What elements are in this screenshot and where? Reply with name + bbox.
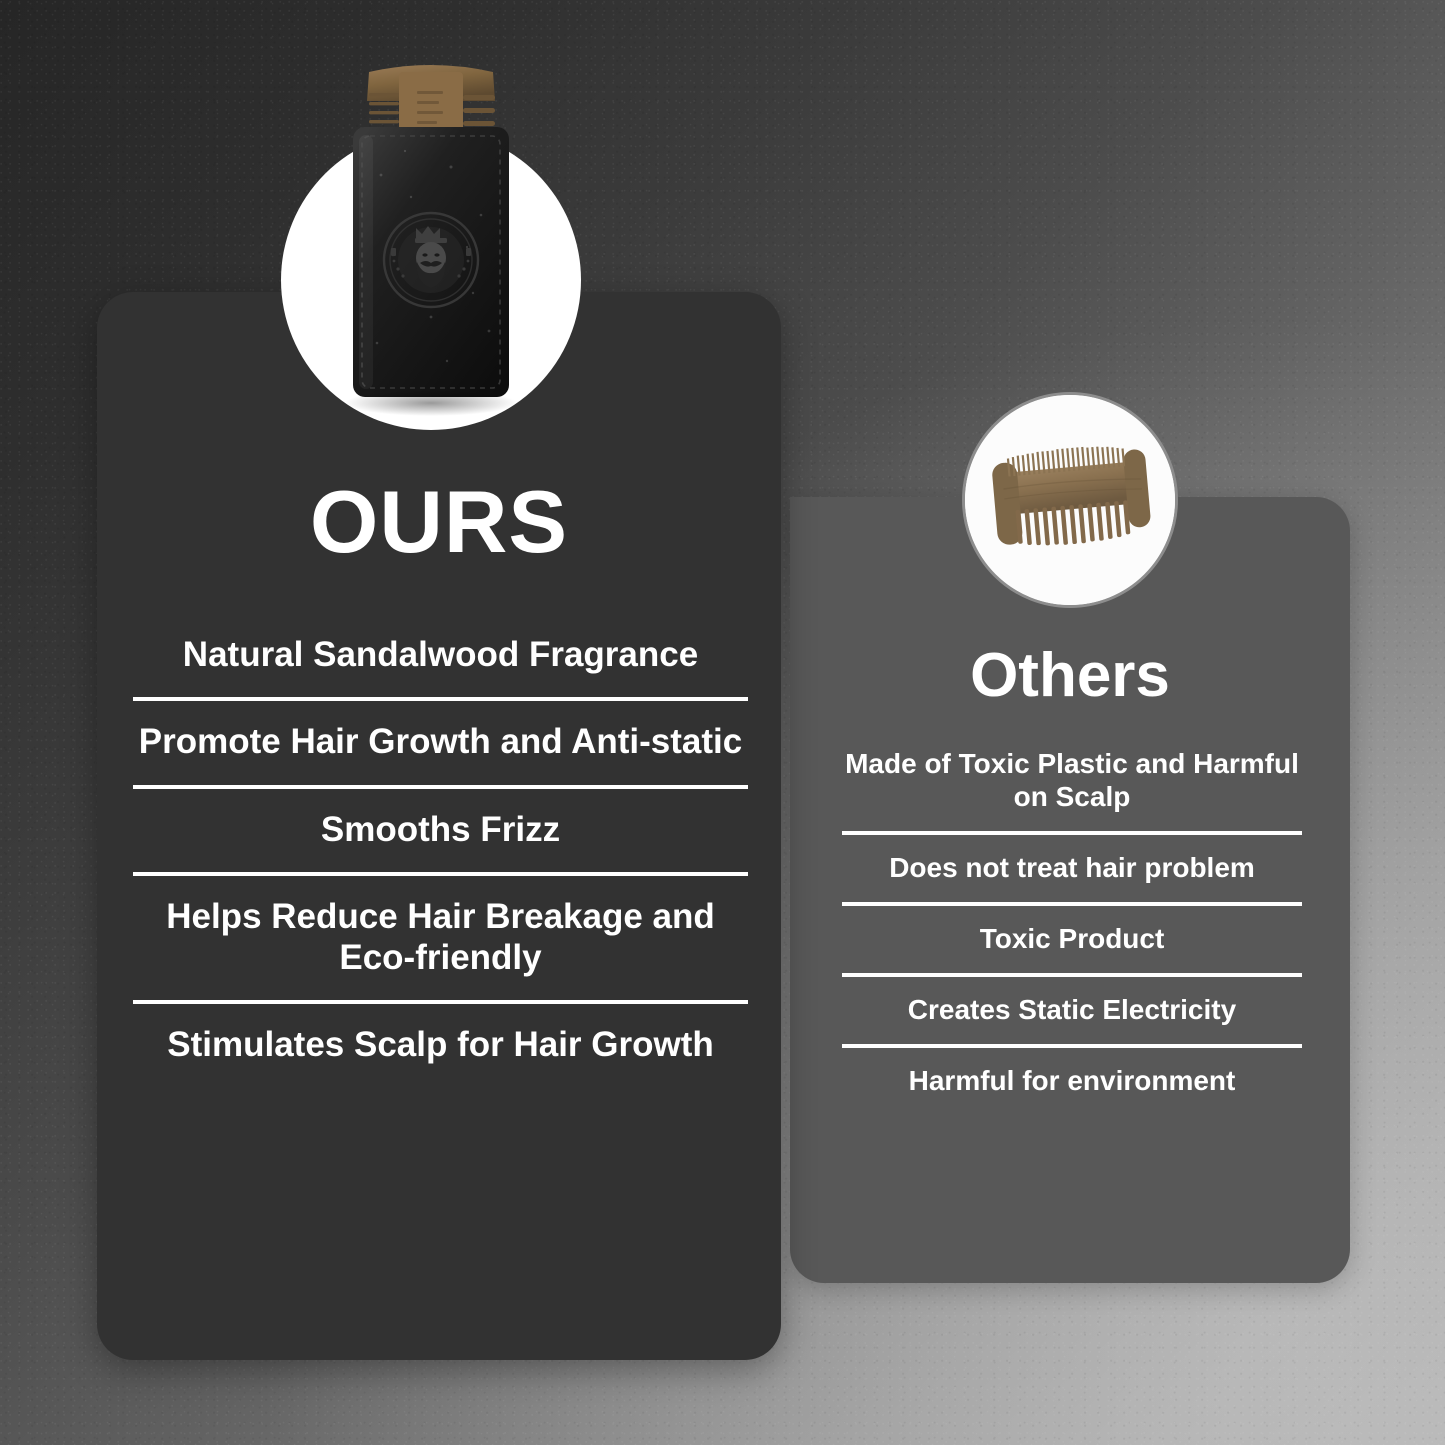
ours-feature-item: Smooths Frizz [133, 803, 748, 860]
ours-feature-item: Promote Hair Growth and Anti-static [133, 715, 748, 772]
ours-feature-list: Natural Sandalwood Fragrance Promote Hai… [133, 628, 748, 1076]
ours-divider [133, 1000, 748, 1004]
ours-divider [133, 872, 748, 876]
others-feature-item: Harmful for environment [842, 1059, 1302, 1105]
ours-photo-backdrop [281, 130, 581, 430]
comparison-infographic: OURS Others Natural Sandalwood Fragrance… [0, 0, 1445, 1445]
ours-divider [133, 697, 748, 701]
others-divider [842, 1044, 1302, 1048]
ours-feature-item: Helps Reduce Hair Breakage and Eco-frien… [133, 890, 748, 989]
others-feature-item: Creates Static Electricity [842, 988, 1302, 1034]
ours-title: OURS [97, 478, 781, 566]
others-divider [842, 831, 1302, 835]
others-feature-list: Made of Toxic Plastic and Harmful on Sca… [842, 742, 1302, 1105]
others-feature-item: Made of Toxic Plastic and Harmful on Sca… [842, 742, 1302, 821]
ours-feature-item: Natural Sandalwood Fragrance [133, 628, 748, 685]
ours-divider [133, 785, 748, 789]
others-divider [842, 973, 1302, 977]
others-title: Others [790, 645, 1350, 707]
others-feature-item: Toxic Product [842, 917, 1302, 963]
ours-feature-item: Stimulates Scalp for Hair Growth [133, 1018, 748, 1075]
others-feature-item: Does not treat hair problem [842, 846, 1302, 892]
others-divider [842, 902, 1302, 906]
others-product-photo [962, 392, 1178, 608]
wooden-comb-icon [965, 395, 1178, 608]
